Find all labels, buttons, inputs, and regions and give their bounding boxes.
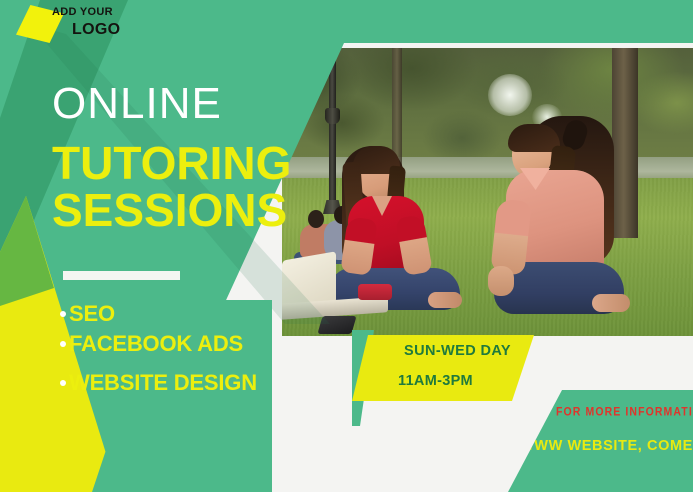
headline-kicker: ONLINE	[52, 82, 352, 126]
photo-light-gap	[488, 74, 532, 116]
logo-placeholder[interactable]: ADD YOUR LOGO	[52, 6, 212, 39]
headline-title-line-1: TUTORING	[52, 140, 352, 187]
bullet-dot-icon	[60, 341, 66, 347]
list-item: FACEBOOK ADS	[60, 333, 360, 355]
list-item: SEO	[60, 303, 360, 325]
photo-student-tutor	[472, 116, 652, 332]
service-label: FACEBOOK ADS	[69, 333, 243, 355]
schedule-hours: 11AM-3PM	[398, 373, 473, 389]
contact-website[interactable]: WWW WEBSITE, COME	[520, 438, 693, 454]
poster-canvas: ADD YOUR LOGO ONLINE TUTORING SESSIONS S…	[0, 0, 693, 492]
headline-block: ONLINE TUTORING SESSIONS	[52, 82, 352, 234]
bullet-dot-icon	[60, 311, 66, 317]
photo-red-bag	[358, 284, 392, 300]
contact-panel: FOR MORE INFORMATIN WWW WEBSITE, COME	[508, 390, 693, 492]
bullet-dot-icon	[60, 380, 66, 386]
photo-student-a-foot	[428, 292, 462, 308]
contact-info-label: FOR MORE INFORMATIN	[556, 405, 693, 419]
logo-line-1: ADD YOUR	[52, 6, 212, 18]
photo-student-b-foot	[592, 294, 630, 312]
service-label: SEO	[69, 303, 115, 325]
list-item: WEBSITE DESIGN	[60, 372, 360, 394]
logo-line-2: LOGO	[72, 21, 212, 39]
photo-student-b-hand	[488, 266, 514, 296]
headline-title-line-2: SESSIONS	[52, 187, 352, 234]
headline-divider	[63, 271, 180, 280]
services-list: SEO FACEBOOK ADS WEBSITE DESIGN	[60, 303, 360, 394]
schedule-days: SUN-WED DAY	[404, 343, 511, 359]
service-label: WEBSITE DESIGN	[69, 372, 257, 394]
schedule-banner: SUN-WED DAY 11AM-3PM	[352, 335, 534, 401]
